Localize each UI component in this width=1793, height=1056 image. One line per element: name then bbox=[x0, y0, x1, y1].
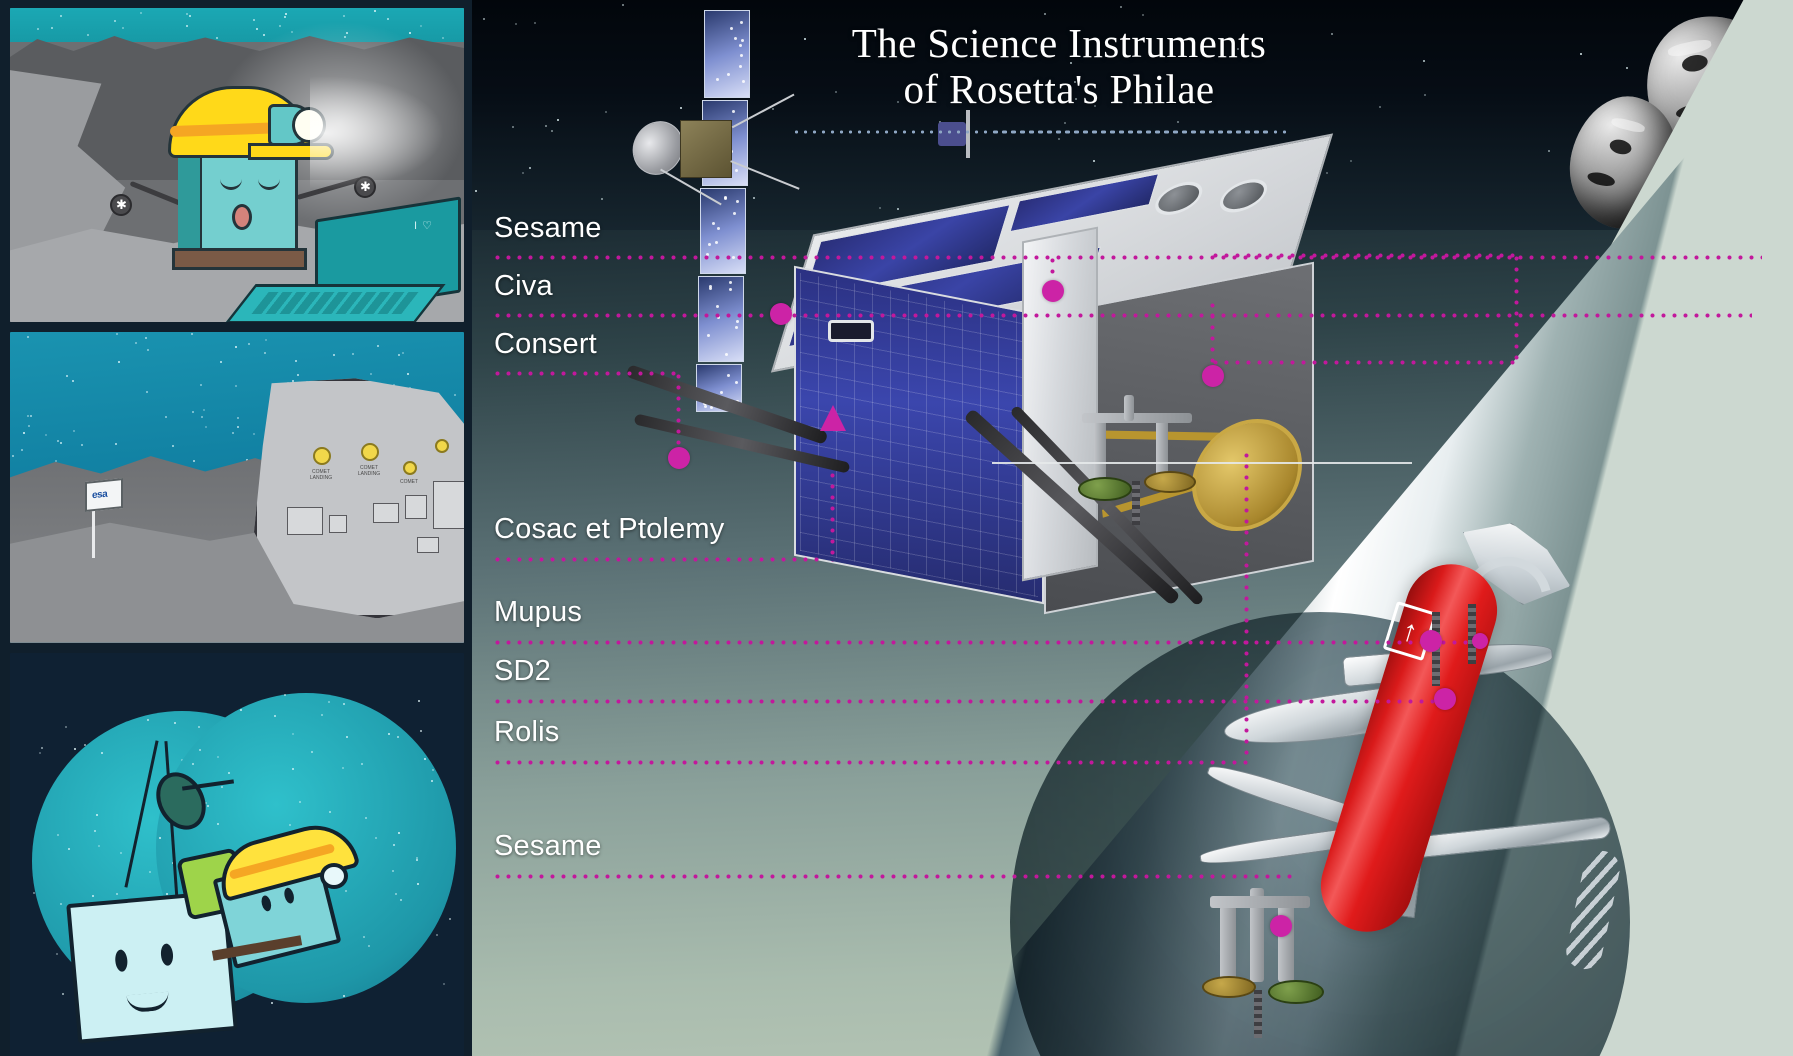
star-speck bbox=[297, 374, 299, 376]
star-speck bbox=[388, 733, 390, 735]
star-speck bbox=[454, 394, 456, 396]
star-speck bbox=[232, 432, 234, 434]
solar-cell-speck bbox=[720, 391, 723, 394]
star-speck bbox=[289, 824, 291, 826]
solar-cell-speck bbox=[736, 200, 739, 203]
solar-cell-speck bbox=[729, 281, 732, 284]
star-speck bbox=[431, 780, 433, 782]
star-speck bbox=[398, 832, 400, 834]
star-speck bbox=[557, 119, 559, 121]
character-left-hand bbox=[110, 194, 132, 216]
rock-noticeboard-wall: COMET LANDING COMET LANDING COMET bbox=[254, 378, 464, 618]
star-speck bbox=[217, 756, 219, 758]
pinned-poster-large bbox=[433, 481, 464, 529]
star-speck bbox=[205, 426, 207, 428]
knife-corkscrew bbox=[1563, 848, 1623, 973]
star-speck bbox=[417, 883, 419, 885]
leader-sesame-bottom bbox=[492, 874, 1292, 879]
comet-ridge-2 bbox=[1611, 116, 1646, 134]
label-mupus[interactable]: Mupus bbox=[494, 596, 582, 629]
star-speck bbox=[21, 449, 23, 451]
star-speck bbox=[295, 360, 297, 362]
leader-rolis-vertical bbox=[1244, 450, 1249, 762]
star-speck bbox=[551, 130, 553, 132]
label-consert[interactable]: Consert bbox=[494, 328, 597, 361]
leader-sd2 bbox=[492, 699, 1452, 704]
star-speck bbox=[370, 373, 372, 375]
star-speck bbox=[57, 834, 59, 836]
star-speck bbox=[343, 995, 345, 997]
star-speck bbox=[116, 333, 118, 335]
star-speck bbox=[365, 817, 367, 819]
star-speck bbox=[122, 27, 124, 29]
star-speck bbox=[37, 28, 39, 30]
comet-pit-4 bbox=[1609, 137, 1634, 156]
solar-cell-speck bbox=[724, 197, 727, 200]
philae-small-silhouette bbox=[932, 108, 988, 164]
deck-round-port-2 bbox=[1216, 175, 1272, 216]
laptop-sticker-label: I ♡ bbox=[414, 220, 433, 233]
solar-cell-speck bbox=[704, 405, 707, 408]
star-speck bbox=[248, 343, 250, 345]
star-speck bbox=[237, 426, 239, 428]
star-speck bbox=[66, 375, 68, 377]
philae-instruments-infographic: The Science Instruments of Rosetta's Phi… bbox=[472, 0, 1793, 1056]
star-speck bbox=[432, 769, 434, 771]
star-speck bbox=[343, 703, 345, 705]
solar-cell-speck bbox=[734, 37, 737, 40]
star-speck bbox=[392, 870, 394, 872]
star-speck bbox=[159, 837, 161, 839]
solar-wing-seg-3 bbox=[700, 188, 746, 274]
star-speck bbox=[240, 709, 242, 711]
solar-cell-speck bbox=[739, 44, 742, 47]
star-speck bbox=[72, 380, 74, 382]
label-sd2[interactable]: SD2 bbox=[494, 655, 551, 688]
leader-right-edge-vertical bbox=[1514, 253, 1519, 363]
star-speck bbox=[271, 1002, 273, 1004]
philae-right-eye-2 bbox=[283, 887, 296, 905]
esa-flag-label: esa bbox=[92, 489, 107, 502]
esa-flag: esa bbox=[85, 478, 123, 512]
solar-cell-speck bbox=[735, 326, 738, 329]
solar-cell-speck bbox=[732, 110, 735, 113]
medal-award-3 bbox=[403, 461, 417, 475]
leader-consert-vertical bbox=[676, 371, 681, 459]
star-speck bbox=[98, 845, 100, 847]
star-speck bbox=[172, 445, 174, 447]
star-speck bbox=[374, 10, 376, 12]
arrow-cosac-ptolemy bbox=[820, 405, 846, 431]
star-speck bbox=[475, 190, 477, 192]
star-speck bbox=[228, 772, 230, 774]
headlamp-beam bbox=[310, 68, 460, 198]
star-speck bbox=[165, 416, 167, 418]
rosetta-smile bbox=[126, 991, 169, 1013]
star-speck bbox=[1424, 94, 1426, 96]
hotspot-consert[interactable] bbox=[668, 447, 690, 469]
star-speck bbox=[333, 354, 335, 356]
star-speck bbox=[342, 767, 344, 769]
star-speck bbox=[253, 433, 255, 435]
ice-screw-left bbox=[1132, 481, 1140, 525]
leader-mupus bbox=[492, 640, 1482, 645]
character-mouth bbox=[232, 204, 252, 230]
star-speck bbox=[393, 844, 395, 846]
medal-label-3: COMET bbox=[389, 479, 429, 485]
star-speck bbox=[147, 349, 149, 351]
star-speck bbox=[118, 361, 120, 363]
star-speck bbox=[207, 805, 209, 807]
star-speck bbox=[284, 694, 286, 696]
hotspot-mupus-2[interactable] bbox=[1472, 633, 1488, 649]
title-line-1: The Science Instruments bbox=[824, 20, 1294, 66]
philae-character-skirt bbox=[172, 248, 307, 270]
star-speck bbox=[193, 460, 195, 462]
rosetta-right-eye bbox=[160, 943, 174, 966]
star-speck bbox=[375, 837, 377, 839]
star-speck bbox=[368, 945, 370, 947]
star-speck bbox=[56, 953, 58, 955]
star-speck bbox=[515, 23, 517, 25]
infographic-root: I ♡ esa COMET LANDING COMET LANDING COME… bbox=[0, 0, 1793, 1056]
hotspot-civa[interactable] bbox=[770, 303, 792, 325]
philae-lander-3d-model bbox=[772, 170, 1392, 590]
star-speck bbox=[400, 899, 402, 901]
star-speck bbox=[534, 22, 536, 24]
star-speck bbox=[529, 167, 531, 169]
hotspot-lander-right[interactable] bbox=[1202, 365, 1224, 387]
star-speck bbox=[201, 416, 203, 418]
orbiter-spacecraft-bus bbox=[680, 120, 732, 178]
star-speck bbox=[200, 384, 202, 386]
solar-cell-speck bbox=[716, 305, 719, 308]
solar-cell-speck bbox=[715, 241, 718, 244]
horizon-guide-line bbox=[992, 462, 1412, 464]
star-speck bbox=[101, 752, 103, 754]
civa-camera-port bbox=[828, 320, 874, 342]
leader-civa bbox=[492, 313, 1752, 318]
comet-pit-1 bbox=[1680, 53, 1709, 74]
star-speck bbox=[60, 442, 62, 444]
star-speck bbox=[449, 918, 451, 920]
medal-label-2: COMET LANDING bbox=[349, 465, 389, 477]
star-speck bbox=[28, 425, 30, 427]
star-speck bbox=[377, 345, 379, 347]
comic-panel-cave-laptop: I ♡ bbox=[10, 8, 464, 322]
hotspot-mupus[interactable] bbox=[1420, 630, 1442, 652]
star-speck bbox=[186, 25, 188, 27]
star-speck bbox=[311, 751, 313, 753]
star-speck bbox=[30, 415, 32, 417]
star-speck bbox=[605, 111, 607, 113]
star-speck bbox=[274, 715, 276, 717]
star-speck bbox=[145, 337, 147, 339]
leader-cosac-ptolemy bbox=[492, 557, 822, 562]
star-speck bbox=[321, 714, 323, 716]
star-speck bbox=[191, 333, 193, 335]
star-speck bbox=[416, 859, 418, 861]
star-speck bbox=[189, 15, 191, 17]
solar-cell-speck bbox=[735, 381, 738, 384]
star-speck bbox=[512, 126, 514, 128]
ice-screw-bottom bbox=[1254, 990, 1262, 1038]
leader-rolis bbox=[492, 760, 1252, 765]
star-speck bbox=[329, 811, 331, 813]
star-speck bbox=[1350, 160, 1352, 162]
star-speck bbox=[622, 4, 624, 6]
lander-to-comet-connector bbox=[992, 130, 1292, 134]
star-speck bbox=[60, 903, 62, 905]
foot-pad-green-bottom bbox=[1268, 980, 1324, 1004]
foot-pad-gold-bottom bbox=[1202, 976, 1256, 998]
star-speck bbox=[217, 823, 219, 825]
star-speck bbox=[237, 417, 239, 419]
star-speck bbox=[265, 339, 267, 341]
label-civa[interactable]: Civa bbox=[494, 270, 553, 303]
star-speck bbox=[65, 726, 67, 728]
medal-award-4 bbox=[435, 439, 449, 453]
pinned-photo-3 bbox=[373, 503, 399, 523]
deck-solar-panel-2 bbox=[1009, 173, 1159, 232]
star-speck bbox=[346, 736, 348, 738]
landing-leg-assembly-left bbox=[1072, 395, 1262, 525]
page-title: The Science Instruments of Rosetta's Phi… bbox=[824, 20, 1294, 112]
star-speck bbox=[57, 440, 59, 442]
solar-cell-speck bbox=[735, 169, 738, 172]
deck-round-port-1 bbox=[1151, 178, 1207, 219]
star-speck bbox=[12, 455, 14, 457]
label-cosac-ptolemy[interactable]: Cosac et Ptolemy bbox=[494, 513, 724, 546]
star-speck bbox=[1548, 150, 1550, 152]
medal-label-1: COMET LANDING bbox=[301, 469, 341, 481]
star-speck bbox=[33, 892, 35, 894]
star-speck bbox=[398, 354, 400, 356]
star-speck bbox=[522, 172, 524, 174]
star-speck bbox=[192, 411, 194, 413]
comic-panel-binocular-landers bbox=[10, 653, 464, 1056]
star-speck bbox=[68, 848, 70, 850]
comic-panel-esa-flag: esa COMET LANDING COMET LANDING COMET bbox=[10, 332, 464, 642]
leg-strut-l1 bbox=[1094, 415, 1106, 485]
leader-lander-right-bottom bbox=[1210, 360, 1520, 365]
leg-crossbar-b bbox=[1210, 896, 1310, 908]
star-speck bbox=[146, 391, 148, 393]
comic-strip-column: I ♡ esa COMET LANDING COMET LANDING COME… bbox=[0, 0, 472, 1056]
star-speck bbox=[345, 890, 347, 892]
star-speck bbox=[192, 763, 194, 765]
philae-mini-mast bbox=[966, 110, 970, 158]
pinned-photo-5 bbox=[417, 537, 439, 553]
solar-cell-speck bbox=[727, 73, 730, 76]
star-speck bbox=[1331, 33, 1333, 35]
solar-cell-speck bbox=[708, 243, 711, 246]
medal-award-1 bbox=[313, 447, 331, 465]
comet-pit-5 bbox=[1586, 170, 1616, 188]
star-speck bbox=[23, 432, 25, 434]
star-speck bbox=[147, 719, 149, 721]
star-speck bbox=[395, 893, 397, 895]
star-speck bbox=[27, 415, 29, 417]
label-rolis[interactable]: Rolis bbox=[494, 716, 559, 749]
star-speck bbox=[1044, 13, 1046, 15]
star-speck bbox=[1142, 14, 1144, 16]
star-speck bbox=[1177, 121, 1179, 123]
solar-cell-speck bbox=[740, 54, 743, 57]
philae-left-eye-2 bbox=[260, 894, 273, 912]
star-speck bbox=[94, 830, 96, 832]
star-speck bbox=[285, 13, 287, 15]
star-speck bbox=[292, 733, 294, 735]
solar-cell-speck bbox=[727, 374, 730, 377]
binocular-view bbox=[32, 675, 456, 1043]
solar-cell-speck bbox=[739, 65, 742, 68]
star-speck bbox=[60, 15, 62, 17]
solar-cell-speck bbox=[717, 227, 720, 230]
star-speck bbox=[436, 934, 438, 936]
leader-sesame-top bbox=[492, 255, 1762, 260]
solar-wing-seg-1 bbox=[704, 10, 750, 98]
solar-cell-speck bbox=[742, 80, 745, 83]
star-speck bbox=[235, 385, 237, 387]
solar-cell-speck bbox=[733, 212, 736, 215]
star-speck bbox=[1120, 6, 1122, 8]
hotspot-sd2[interactable] bbox=[1434, 688, 1456, 710]
solar-cell-speck bbox=[741, 39, 744, 42]
star-speck bbox=[420, 730, 422, 732]
solar-cell-speck bbox=[740, 21, 743, 24]
leader-cosac-vertical bbox=[830, 470, 835, 562]
star-speck bbox=[235, 346, 237, 348]
star-speck bbox=[424, 758, 426, 760]
landing-leg-assembly-bottom bbox=[1210, 880, 1410, 1040]
star-speck bbox=[87, 34, 89, 36]
star-speck bbox=[96, 814, 98, 816]
foot-pad-green-left bbox=[1078, 477, 1132, 501]
star-speck bbox=[51, 27, 53, 29]
star-speck bbox=[74, 748, 76, 750]
laptop-keyboard bbox=[251, 292, 418, 314]
star-speck bbox=[116, 893, 118, 895]
star-speck bbox=[545, 125, 547, 127]
hotspot-sesame-bottom[interactable] bbox=[1270, 915, 1292, 937]
star-speck bbox=[1379, 106, 1381, 108]
star-speck bbox=[115, 443, 117, 445]
star-speck bbox=[418, 700, 420, 702]
solar-cell-speck bbox=[716, 78, 719, 81]
foot-pad-gold-left bbox=[1144, 471, 1196, 493]
star-speck bbox=[120, 852, 122, 854]
star-speck bbox=[1064, 122, 1066, 124]
star-speck bbox=[443, 983, 445, 985]
solar-cell-speck bbox=[736, 320, 739, 323]
leader-consert bbox=[492, 371, 682, 376]
star-speck bbox=[220, 361, 222, 363]
star-speck bbox=[73, 430, 75, 432]
star-speck bbox=[221, 786, 223, 788]
star-speck bbox=[62, 993, 64, 995]
leader-lander-right-top bbox=[1210, 253, 1520, 258]
star-speck bbox=[1423, 60, 1425, 62]
title-line-2: of Rosetta's Philae bbox=[824, 66, 1294, 112]
star-speck bbox=[397, 736, 399, 738]
solar-cell-speck bbox=[725, 353, 728, 356]
solar-cell-speck bbox=[707, 334, 710, 337]
philae-mini-body bbox=[938, 122, 966, 146]
star-speck bbox=[361, 763, 363, 765]
star-speck bbox=[186, 13, 188, 15]
star-speck bbox=[352, 353, 354, 355]
star-speck bbox=[140, 12, 142, 14]
star-speck bbox=[84, 744, 86, 746]
star-speck bbox=[45, 434, 47, 436]
medal-award-2 bbox=[361, 443, 379, 461]
pinned-photo-4 bbox=[405, 495, 427, 519]
star-speck bbox=[1058, 138, 1060, 140]
pinned-photo-2 bbox=[329, 515, 347, 533]
leg-crossbar-l bbox=[1082, 413, 1192, 423]
star-speck bbox=[1093, 160, 1095, 162]
star-speck bbox=[264, 352, 266, 354]
star-speck bbox=[203, 409, 205, 411]
solar-cell-speck bbox=[729, 288, 732, 291]
star-speck bbox=[81, 444, 83, 446]
pinned-photo-1 bbox=[287, 507, 323, 535]
star-speck bbox=[41, 747, 43, 749]
solar-wing-seg-4 bbox=[698, 276, 744, 362]
star-speck bbox=[601, 198, 603, 200]
star-speck bbox=[292, 768, 294, 770]
leg-strut-b1 bbox=[1220, 906, 1236, 984]
philae-headlamp-2 bbox=[320, 863, 348, 889]
philae-character-body bbox=[178, 148, 298, 252]
hotspot-sesame-top[interactable] bbox=[1042, 280, 1064, 302]
star-speck bbox=[363, 936, 365, 938]
star-speck bbox=[135, 342, 137, 344]
leg-strut-b2 bbox=[1278, 902, 1294, 982]
solar-cell-speck bbox=[712, 222, 715, 225]
star-speck bbox=[149, 871, 151, 873]
star-speck bbox=[114, 20, 116, 22]
star-speck bbox=[174, 722, 176, 724]
leg-post-l bbox=[1124, 395, 1134, 421]
rosetta-left-eye bbox=[114, 949, 128, 972]
star-speck bbox=[402, 352, 404, 354]
star-speck bbox=[39, 752, 41, 754]
star-speck bbox=[299, 801, 301, 803]
star-speck bbox=[407, 373, 409, 375]
star-speck bbox=[483, 18, 485, 20]
star-speck bbox=[199, 749, 201, 751]
star-speck bbox=[92, 895, 94, 897]
star-speck bbox=[292, 380, 294, 382]
star-speck bbox=[328, 701, 330, 703]
solar-cell-speck bbox=[730, 27, 733, 30]
label-sesame-top[interactable]: Sesame bbox=[494, 212, 602, 245]
star-speck bbox=[27, 336, 29, 338]
label-sesame-bottom[interactable]: Sesame bbox=[494, 830, 602, 863]
